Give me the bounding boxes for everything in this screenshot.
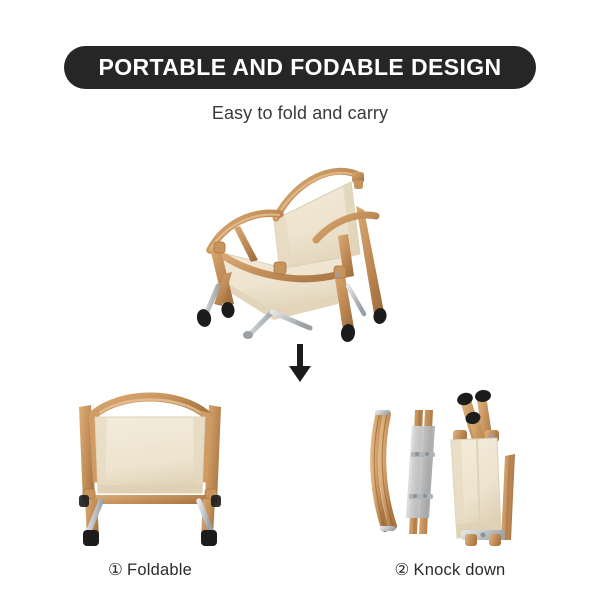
step-foldable: ①Foldable (0, 382, 300, 580)
header: PORTABLE AND FODABLE DESIGN Easy to fold… (0, 0, 600, 124)
page-title: PORTABLE AND FODABLE DESIGN (64, 46, 535, 89)
step-label-1: Foldable (127, 561, 192, 579)
hero-chair-image (188, 136, 416, 344)
arrow-down-container (0, 344, 600, 387)
step-label-2: Knock down (414, 561, 506, 579)
steps-row: ①Foldable (0, 382, 600, 580)
arrow-down-icon (287, 344, 313, 382)
infographic-page: PORTABLE AND FODABLE DESIGN Easy to fold… (0, 0, 600, 600)
step-caption-knockdown: ②Knock down (395, 560, 506, 580)
step-number-1: ① (108, 561, 123, 579)
knockdown-parts-image (365, 382, 535, 550)
page-subtitle: Easy to fold and carry (0, 103, 600, 124)
step-caption-foldable: ①Foldable (108, 560, 192, 580)
step-knockdown: ②Knock down (300, 382, 600, 580)
step-number-2: ② (395, 561, 410, 579)
folded-chair-image (65, 382, 235, 550)
